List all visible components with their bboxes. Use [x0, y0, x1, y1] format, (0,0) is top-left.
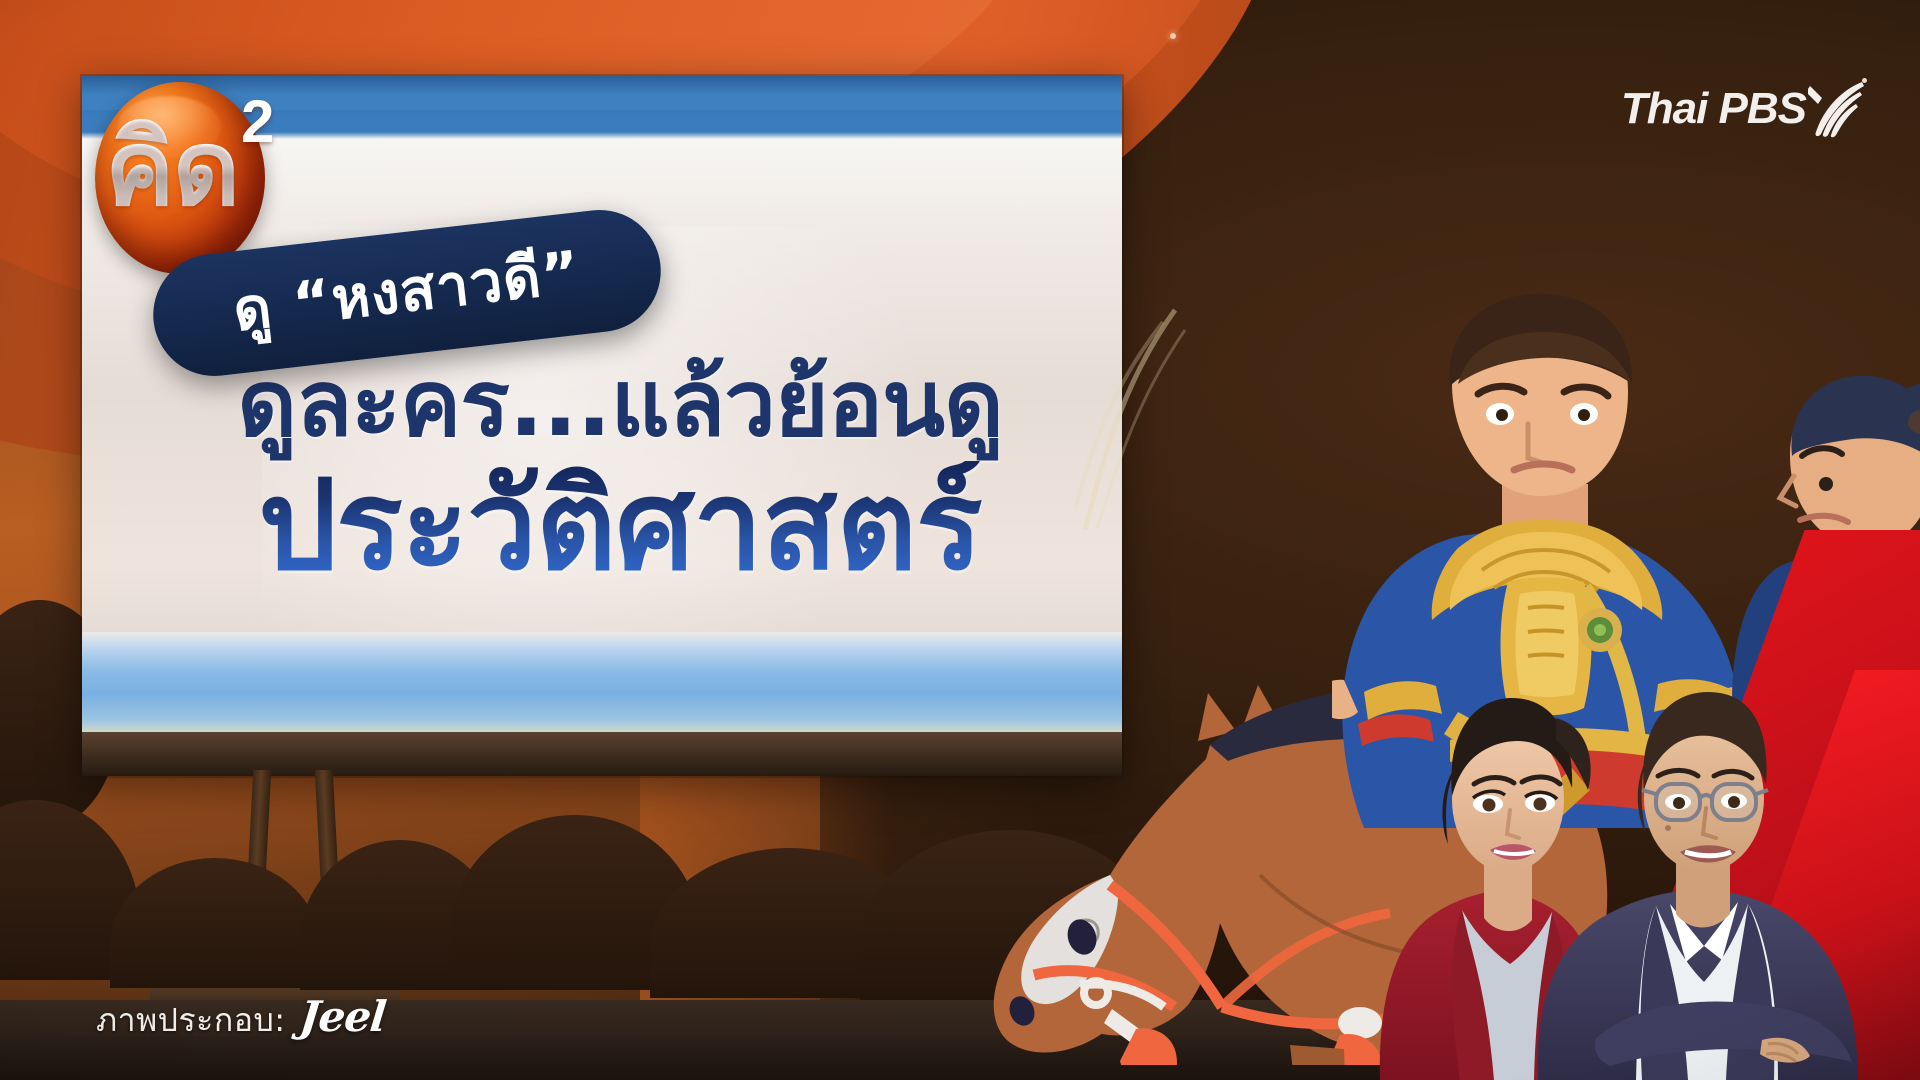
presenters-photo [1370, 648, 1920, 1080]
credit-label: ภาพประกอบ: [96, 995, 286, 1046]
illustration-credit: ภาพประกอบ: Jeel [96, 992, 385, 1046]
logo-wordmark: คิด [105, 116, 255, 220]
thai-pbs-swoosh-icon [1808, 80, 1868, 138]
logo-superscript: 2 [241, 92, 274, 152]
thai-pbs-wordmark: Thai PBS [1621, 84, 1806, 134]
promo-graphic: ดูละคร...แล้วย้อนดู ประวัติศาสตร์ คิด 2 … [0, 0, 1920, 1080]
credit-artist-signature: Jeel [297, 992, 387, 1041]
thai-pbs-logo: Thai PBS [1621, 78, 1868, 140]
light-dot-icon [1170, 33, 1176, 39]
grass-strokes-icon [1075, 300, 1195, 530]
